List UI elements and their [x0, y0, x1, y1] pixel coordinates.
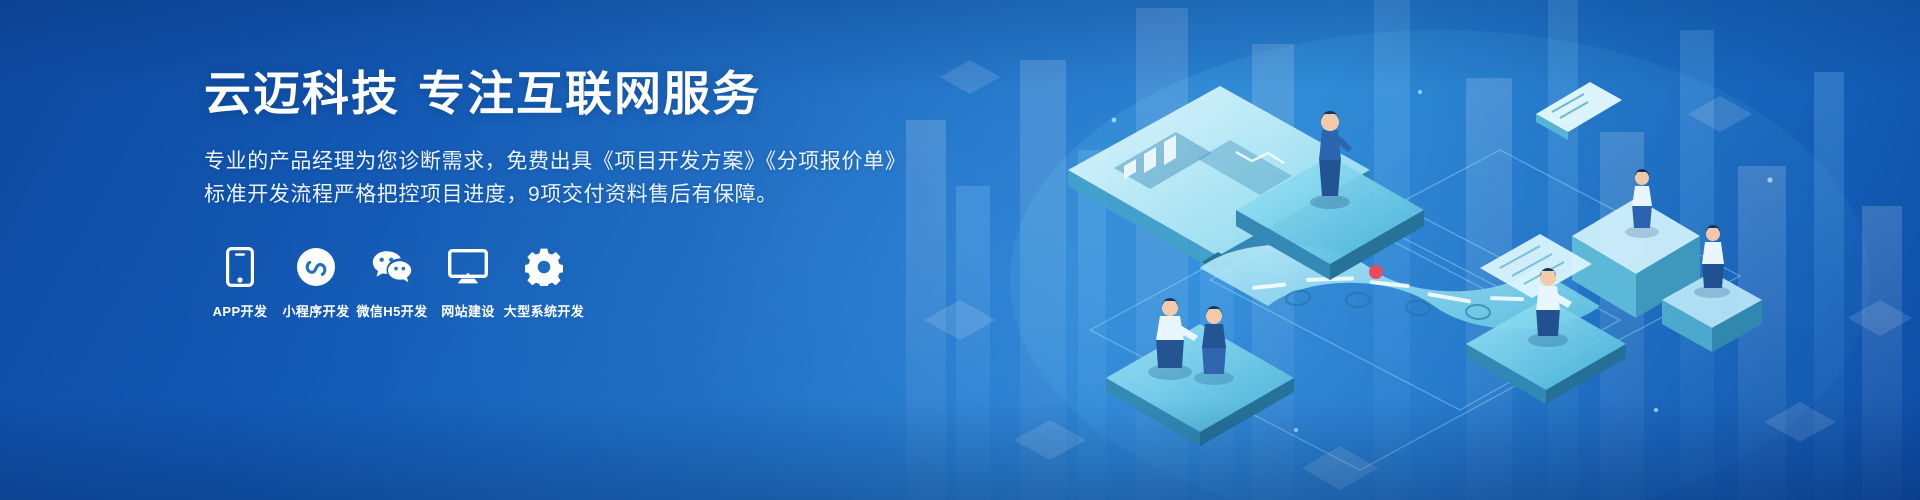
- platform-right: [1466, 298, 1626, 404]
- service-item-wechat-h5[interactable]: 微信H5开发: [356, 247, 428, 320]
- service-list: APP开发 小程序开发: [204, 247, 904, 320]
- mini-program-icon: [296, 247, 336, 287]
- service-label: 小程序开发: [282, 301, 349, 320]
- right-cubes: [1572, 198, 1762, 352]
- person-front-left-seated: [1148, 298, 1198, 380]
- monitor-icon: [448, 247, 488, 287]
- banner-subtitle: 专业的产品经理为您诊断需求，免费出具《项目开发方案》《分项报价单》 标准开发流程…: [204, 145, 904, 211]
- service-label: 网站建设: [441, 301, 495, 320]
- service-item-website[interactable]: 网站建设: [432, 247, 504, 320]
- hero-banner: 云迈科技专注互联网服务 专业的产品经理为您诊断需求，免费出具《项目开发方案》《分…: [0, 0, 1920, 500]
- person-front-left-standing: [1194, 306, 1234, 385]
- dashboard-screen: [1068, 86, 1370, 272]
- person-far-right: [1694, 225, 1730, 298]
- service-item-app[interactable]: APP开发: [204, 247, 276, 320]
- service-label: 大型系统开发: [504, 301, 584, 320]
- service-item-large-system[interactable]: 大型系统开发: [508, 247, 580, 320]
- isometric-diamonds: [924, 60, 1912, 490]
- subtitle-line-1: 专业的产品经理为您诊断需求，免费出具《项目开发方案》《分项报价单》: [204, 145, 904, 178]
- gear-icon: [524, 247, 564, 287]
- service-label: 微信H5开发: [356, 301, 427, 320]
- banner-content: 云迈科技专注互联网服务 专业的产品经理为您诊断需求，免费出具《项目开发方案》《分…: [204, 66, 904, 320]
- headline-tagline: 专注互联网服务: [418, 67, 761, 120]
- flowing-data-ribbon: [1200, 245, 1600, 330]
- page-title: 云迈科技专注互联网服务: [204, 66, 904, 121]
- service-label: APP开发: [213, 301, 268, 320]
- mobile-phone-icon: [220, 247, 260, 287]
- floating-tablet-card-top: [1536, 82, 1622, 140]
- isometric-scene: [1068, 82, 1773, 446]
- service-item-mini-program[interactable]: 小程序开发: [280, 247, 352, 320]
- person-center-dark: [1310, 111, 1352, 209]
- floating-tablet-card-bottom: [1480, 234, 1592, 298]
- illustration-background-geometry: [900, 0, 1920, 500]
- person-top-right: [1625, 169, 1659, 238]
- headline-brand: 云迈科技: [204, 67, 400, 120]
- background-bars: [906, 0, 1902, 500]
- wechat-icon: [372, 247, 412, 287]
- platform-center: [1236, 156, 1424, 280]
- wireframe-grid: [1090, 150, 1740, 470]
- person-right-platform: [1528, 268, 1572, 347]
- platform-front-left: [1106, 324, 1294, 446]
- subtitle-line-2: 标准开发流程严格把控项目进度，9项交付资料售后有保障。: [204, 178, 904, 211]
